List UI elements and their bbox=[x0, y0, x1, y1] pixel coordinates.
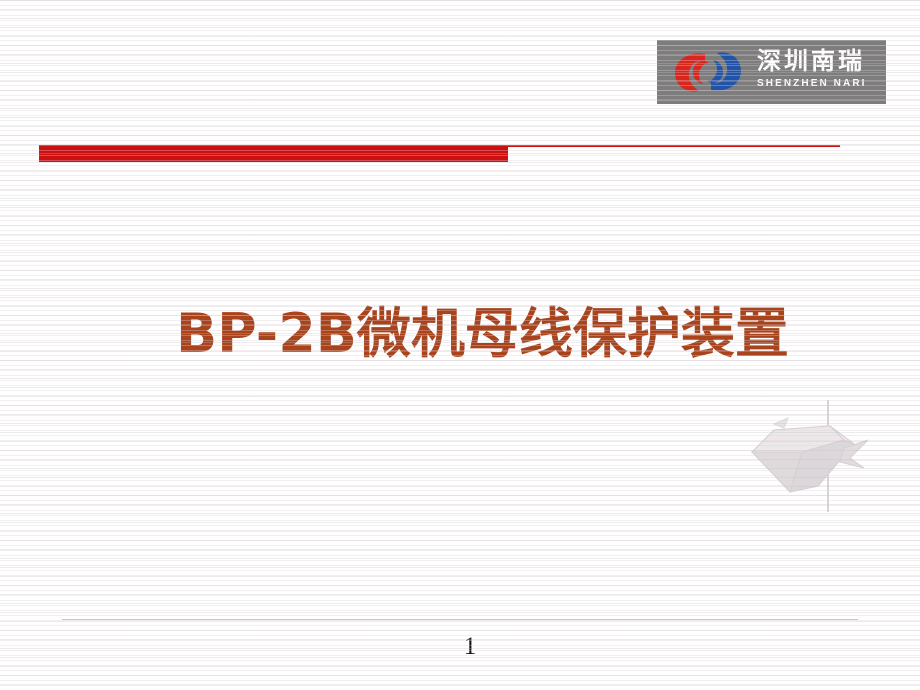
accent-bar-thin bbox=[508, 145, 840, 147]
page-number: 1 bbox=[440, 632, 500, 662]
slide-title: BP-2B微机母线保护装置 bbox=[176, 302, 776, 366]
logo-company-name-cn: 深圳南瑞 bbox=[757, 46, 881, 76]
faceted-gem-shape-icon bbox=[744, 396, 868, 516]
footer-divider bbox=[62, 619, 858, 620]
presentation-slide: 深圳南瑞 SHENZHEN NARI BP-2B微机母线保护装置 1 bbox=[0, 0, 920, 690]
shenzhen-nari-swirl-logo-icon bbox=[671, 48, 745, 96]
company-logo-box: 深圳南瑞 SHENZHEN NARI bbox=[657, 40, 886, 104]
accent-bar-thick bbox=[39, 145, 508, 162]
logo-company-name-en: SHENZHEN NARI bbox=[757, 78, 883, 90]
